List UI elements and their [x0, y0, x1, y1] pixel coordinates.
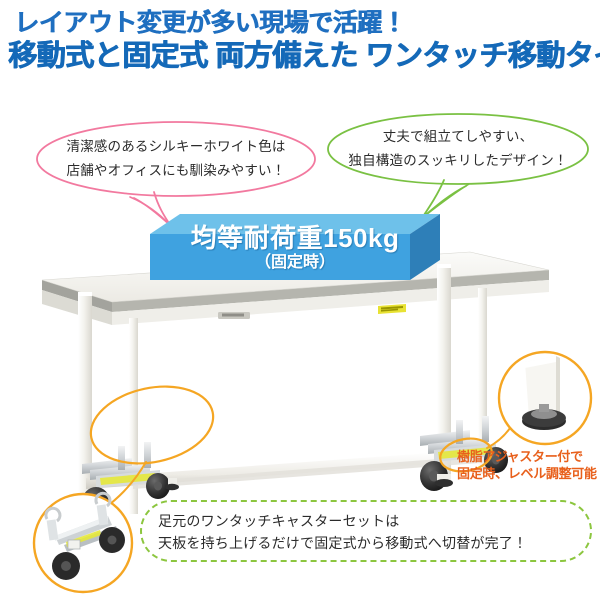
- caster-caption-line-1: 足元のワンタッチキャスターセットは: [158, 510, 588, 532]
- highlight-ellipse-caster: [84, 376, 221, 474]
- adjuster-caption-line-1: 樹脂アジャスター付で: [457, 448, 600, 465]
- caster-caption-line-2: 天板を持ち上げるだけで固定式から移動式へ切替が完了！: [158, 532, 588, 554]
- adjuster-detail-art: [522, 356, 566, 430]
- adjuster-caption: 樹脂アジャスター付で 固定時、レベル調整可能: [457, 448, 600, 482]
- caster-caption: 足元のワンタッチキャスターセットは 天板を持ち上げるだけで固定式から移動式へ切替…: [158, 510, 588, 554]
- promo-canvas: レイアウト変更が多い現場で活躍！ 移動式と固定式 両方備えた ワンタッチ移動タイ…: [0, 0, 600, 600]
- adjuster-caption-line-2: 固定時、レベル調整可能: [457, 465, 600, 482]
